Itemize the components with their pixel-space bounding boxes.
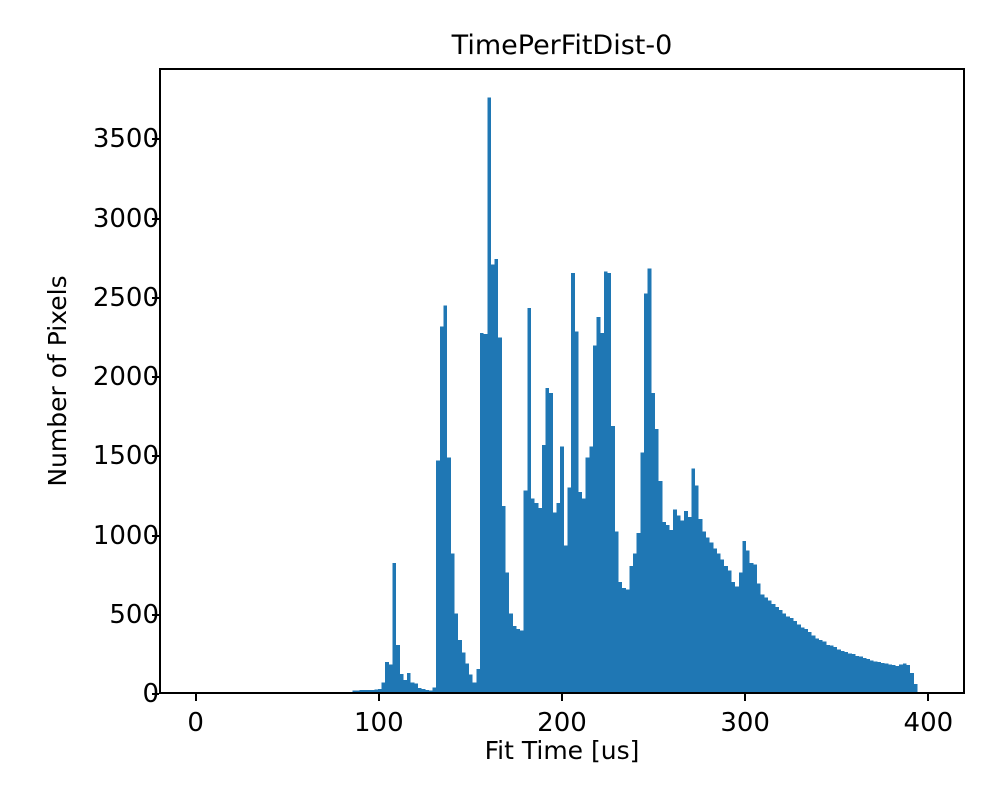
x-tick-label: 400 bbox=[868, 708, 988, 738]
x-tick-label: 0 bbox=[136, 708, 256, 738]
y-tick-mark bbox=[152, 614, 159, 616]
y-tick-mark bbox=[152, 138, 159, 140]
y-tick-mark bbox=[152, 297, 159, 299]
y-axis-ticks: 0500100015002000250030003500 bbox=[45, 0, 159, 800]
x-tick-mark bbox=[378, 694, 380, 701]
histogram-figure: TimePerFitDist-0 Number of Pixels 050010… bbox=[0, 0, 1000, 800]
histogram-bars bbox=[161, 70, 963, 692]
x-axis-label: Fit Time [us] bbox=[159, 736, 965, 766]
y-tick-label: 3500 bbox=[59, 126, 159, 152]
x-tick-label: 200 bbox=[502, 708, 622, 738]
x-tick-mark bbox=[195, 694, 197, 701]
y-tick-label: 1500 bbox=[59, 443, 159, 469]
y-tick-label: 1000 bbox=[59, 523, 159, 549]
y-tick-label: 500 bbox=[59, 602, 159, 628]
histogram-bar-path bbox=[352, 98, 917, 692]
y-tick-mark bbox=[152, 535, 159, 537]
y-tick-label: 2000 bbox=[59, 364, 159, 390]
y-tick-label: 3000 bbox=[59, 206, 159, 232]
y-tick-mark bbox=[152, 376, 159, 378]
histogram-bars-svg bbox=[161, 70, 963, 692]
x-tick-mark bbox=[927, 694, 929, 701]
x-tick-mark bbox=[744, 694, 746, 701]
y-tick-label: 2500 bbox=[59, 285, 159, 311]
x-tick-mark bbox=[561, 694, 563, 701]
y-tick-mark bbox=[152, 455, 159, 457]
plot-area bbox=[159, 68, 965, 694]
x-tick-label: 300 bbox=[685, 708, 805, 738]
x-tick-label: 100 bbox=[319, 708, 439, 738]
y-tick-mark bbox=[152, 218, 159, 220]
page-title: TimePerFitDist-0 bbox=[159, 30, 965, 62]
